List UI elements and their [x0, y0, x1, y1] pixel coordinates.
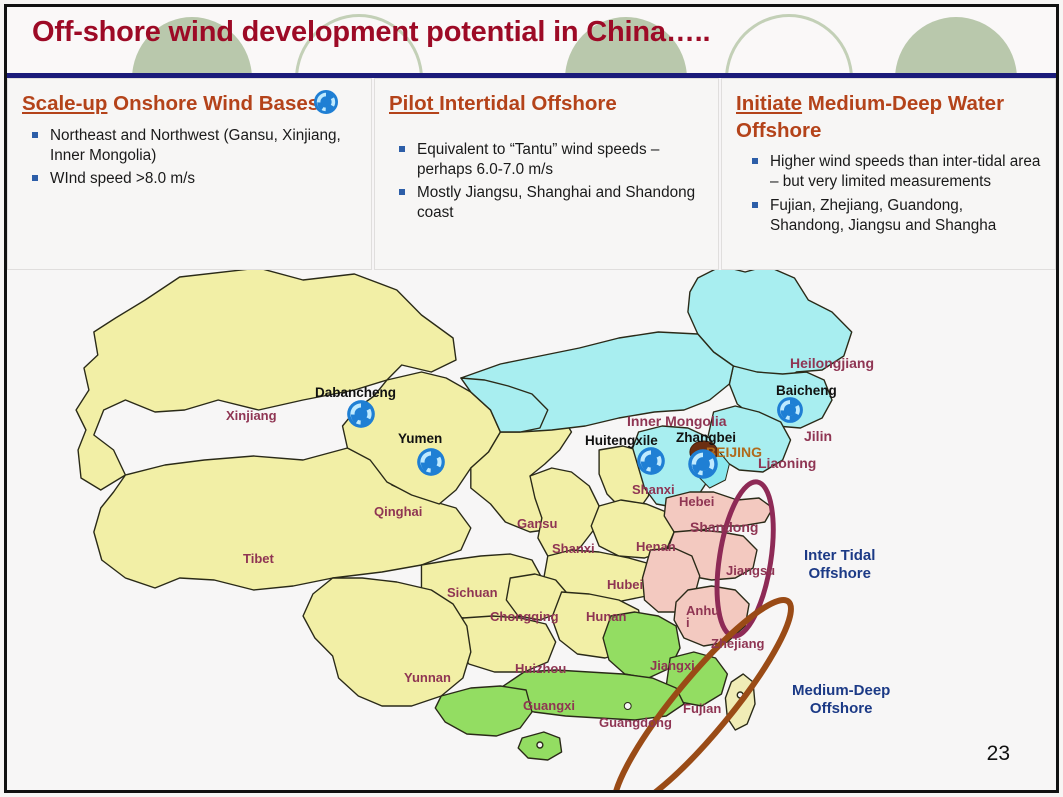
column-heading-rest: Onshore Wind Bases	[107, 92, 319, 115]
list-item: Equivalent to “Tantu” wind speeds – perh…	[389, 140, 704, 180]
page-title: Off-shore wind development potential in …	[32, 16, 710, 49]
wind-turbine-icon	[416, 447, 446, 482]
column-heading-emphasis: Initiate	[736, 92, 802, 115]
column-pilot-intertidal: Pilot Intertidal Offshore Equivalent to …	[374, 78, 719, 270]
title-band: Off-shore wind development potential in …	[7, 7, 1056, 73]
bullet-list: Higher wind speeds than inter-tidal area…	[736, 152, 1041, 236]
column-scale-up-onshore: Scale-up Onshore Wind Bases Northeast an…	[7, 78, 372, 270]
annotation-line-2: Offshore	[804, 565, 875, 583]
list-item: Northeast and Northwest (Gansu, Xinjiang…	[22, 126, 357, 166]
offshore-dot	[624, 703, 631, 710]
annotation-line-1: Medium-Deep	[792, 682, 890, 700]
bullet-list: Northeast and Northwest (Gansu, Xinjiang…	[22, 126, 357, 190]
list-item: Higher wind speeds than inter-tidal area…	[736, 152, 1041, 192]
province-shandong	[664, 492, 773, 532]
wind-turbine-icon	[313, 89, 339, 120]
island-hainan-dot	[537, 742, 543, 748]
column-heading-emphasis: Pilot	[389, 92, 439, 115]
summary-columns: Scale-up Onshore Wind Bases Northeast an…	[7, 78, 1056, 270]
column-heading-rest: Intertidal Offshore	[439, 92, 617, 115]
annotation-medium-deep: Medium-Deep Offshore	[792, 682, 890, 718]
province-shanxi-west	[530, 468, 599, 560]
province-huizhou	[457, 616, 556, 672]
bullet-list: Equivalent to “Tantu” wind speeds – perh…	[389, 140, 704, 224]
list-item: WInd speed >8.0 m/s	[22, 169, 357, 189]
annotation-inter-tidal: Inter Tidal Offshore	[804, 547, 875, 583]
slide-canvas: Off-shore wind development potential in …	[0, 0, 1063, 797]
column-heading: Pilot Intertidal Offshore	[389, 91, 704, 118]
decorative-arc	[895, 17, 1017, 73]
wind-turbine-icon	[687, 448, 719, 485]
page-number: 23	[987, 742, 1010, 766]
list-item: Fujian, Zhejiang, Guandong, Shandong, Ji…	[736, 196, 1041, 236]
wind-turbine-icon	[346, 399, 376, 434]
column-initiate-medium-deep: Initiate Medium-Deep Water Offshore High…	[721, 78, 1056, 270]
wind-turbine-icon	[636, 446, 666, 481]
annotation-line-1: Inter Tidal	[804, 547, 875, 565]
column-heading: Initiate Medium-Deep Water Offshore	[736, 91, 1041, 144]
map-svg	[7, 270, 1056, 790]
china-map: Xinjiang Qinghai Tibet Gansu Shanxi Shan…	[7, 270, 1056, 790]
column-heading: Scale-up Onshore Wind Bases	[22, 91, 357, 118]
province-guangxi	[435, 686, 532, 736]
wind-turbine-icon	[776, 396, 804, 429]
slide-frame: Off-shore wind development potential in …	[4, 4, 1059, 793]
annotation-line-2: Offshore	[792, 700, 890, 718]
decorative-arc	[725, 14, 853, 73]
list-item: Mostly Jiangsu, Shanghai and Shandong co…	[389, 183, 704, 223]
column-heading-emphasis: Scale-up	[22, 92, 107, 115]
